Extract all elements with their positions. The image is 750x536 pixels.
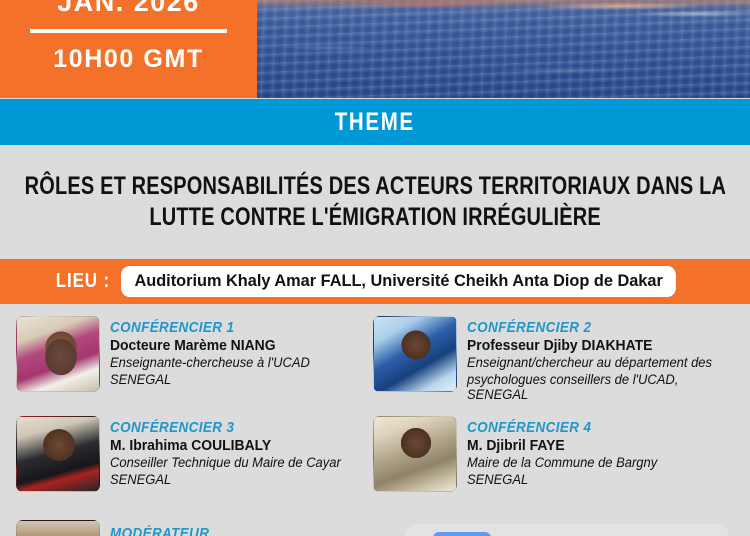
speaker-role-1: CONFÉRENCIER 1 [110,320,304,336]
speaker-card-2: CONFÉRENCIER 2 Professeur Djiby DIAKHATE… [373,316,745,403]
speaker-card-3: CONFÉRENCIER 3 M. Ibrahima COULIBALY Con… [16,416,361,492]
speaker-photo-3 [16,416,100,492]
speaker-info-3: CONFÉRENCIER 3 M. Ibrahima COULIBALY Con… [110,416,350,487]
speaker-photo-1 [16,316,100,392]
speaker-affiliation-3-line2: SENEGAL [110,472,341,488]
speaker-affiliation-1-line2: SENEGAL [110,372,310,388]
moderator-card: MODÉRATEUR [16,520,217,536]
speaker-affiliation-1-line1: Enseignante-chercheuse à l'UCAD [110,355,310,371]
speaker-affiliation-4-line2: SENEGAL [467,472,657,488]
speaker-name-2: Professeur Djiby DIAKHATE [467,338,734,354]
speaker-info-2: CONFÉRENCIER 2 Professeur Djiby DIAKHATE… [467,316,745,403]
speaker-name-1: Docteure Marème NIANG [110,338,310,354]
speaker-name-3: M. Ibrahima COULIBALY [110,438,341,454]
event-date: JAN. 2026 [57,0,200,18]
speaker-affiliation-2-line1: Enseignant/chercheur au département des [467,355,734,371]
moderator-role: MODÉRATEUR [110,526,209,536]
speaker-card-1: CONFÉRENCIER 1 Docteure Marème NIANG Ens… [16,316,356,392]
venue-bar: LIEU : Auditorium Khaly Amar FALL, Unive… [0,259,750,304]
theme-line-2: LUTTE CONTRE L'ÉMIGRATION IRRÉGULIÈRE [149,202,600,233]
speaker-role-3: CONFÉRENCIER 3 [110,420,334,436]
moderator-photo [16,520,100,536]
speaker-info-4: CONFÉRENCIER 4 M. Djibril FAYE Maire de … [467,416,665,487]
speaker-name-4: M. Djibril FAYE [467,438,657,454]
speaker-role-4: CONFÉRENCIER 4 [467,420,651,436]
webinar-poster: JAN. 2026 10H00 GMT THEME RÔLES ET RESPO… [0,0,750,536]
speaker-card-4: CONFÉRENCIER 4 M. Djibril FAYE Maire de … [373,416,745,492]
theme-text-block: RÔLES ET RESPONSABILITÉS DES ACTEURS TER… [0,146,750,258]
speaker-role-2: CONFÉRENCIER 2 [467,320,726,336]
speaker-info-1: CONFÉRENCIER 1 Docteure Marème NIANG Ens… [110,316,318,387]
event-time: 10H00 GMT [53,45,204,74]
poster-header: JAN. 2026 10H00 GMT [0,0,750,98]
speaker-photo-2 [373,316,457,392]
speakers-grid: CONFÉRENCIER 1 Docteure Marème NIANG Ens… [0,310,750,536]
moderator-info: MODÉRATEUR [110,520,217,536]
header-divider [30,29,227,33]
join-meeting-card[interactable] [405,524,729,536]
theme-banner-label: THEME [335,108,415,137]
speaker-affiliation-3-line1: Conseiller Technique du Maire de Cayar [110,455,341,471]
date-time-block: JAN. 2026 10H00 GMT [0,0,257,98]
speaker-affiliation-4-line1: Maire de la Commune de Bargny [467,455,657,471]
theme-banner: THEME [0,99,750,145]
venue-label: LIEU : [56,270,110,293]
speaker-affiliation-2-line2: psychologues conseillers de l'UCAD, SENE… [467,372,734,403]
theme-line-1: RÔLES ET RESPONSABILITÉS DES ACTEURS TER… [24,171,725,202]
speaker-photo-4 [373,416,457,492]
join-button[interactable] [433,532,491,536]
venue-value: Auditorium Khaly Amar FALL, Université C… [121,266,676,297]
